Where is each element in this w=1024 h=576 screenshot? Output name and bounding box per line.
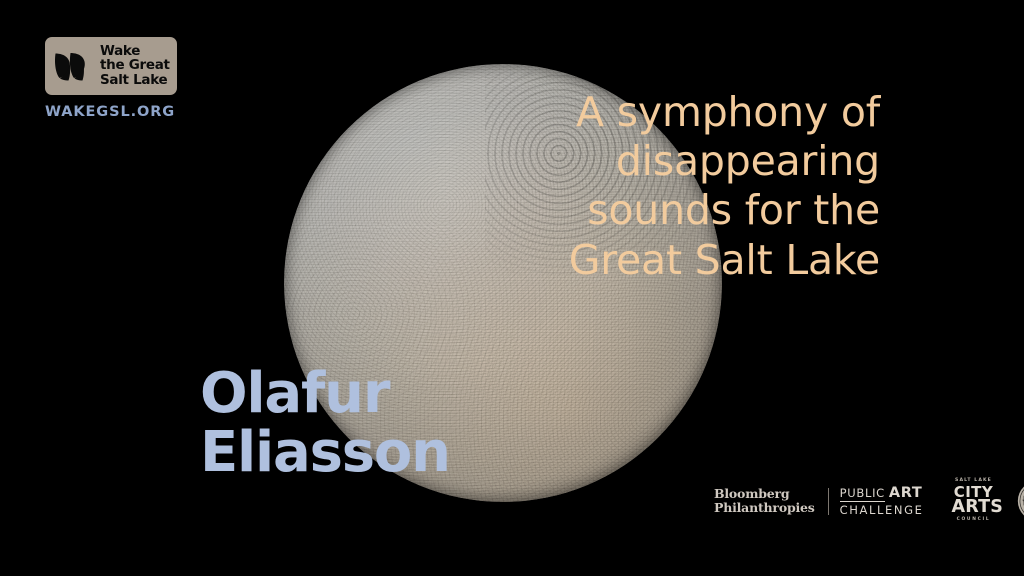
headline-line-3: sounds for the	[410, 186, 880, 235]
pac-art-label: ART	[889, 485, 922, 501]
headline-line-2: disappearing	[410, 137, 880, 186]
pac-challenge-label: CHALLENGE	[840, 504, 924, 518]
poster-canvas: Wake the Great Salt Lake WAKEGSL.ORG A s…	[0, 0, 1024, 576]
brand-website-url[interactable]: WAKEGSL.ORG	[45, 104, 177, 120]
brand-line-1: Wake	[100, 44, 170, 58]
artist-name-line-1: Olafur	[200, 364, 450, 423]
wake-gsl-logo-badge[interactable]: Wake the Great Salt Lake	[45, 37, 177, 95]
headline: A symphony of disappearing sounds for th…	[410, 88, 880, 285]
salt-lake-city-seal-icon[interactable]: 1847 SALT LAKE CITY	[1017, 480, 1024, 522]
artist-name: Olafur Eliasson	[200, 364, 450, 483]
brand-lockup[interactable]: Wake the Great Salt Lake WAKEGSL.ORG	[45, 37, 177, 120]
brand-line-2: the Great	[100, 58, 170, 72]
headline-line-1: A symphony of	[410, 88, 880, 137]
headline-line-4: Great Salt Lake	[410, 236, 880, 285]
bloomberg-philanthropies-logo[interactable]: Bloomberg Philanthropies	[714, 487, 815, 515]
slc-arts-council-logo[interactable]: SALT LAKE CITY ARTS COUNCIL	[951, 479, 995, 523]
slcarts-council-label: COUNCIL	[951, 518, 995, 522]
pac-public-label: PUBLIC	[840, 486, 885, 502]
brand-wordmark: Wake the Great Salt Lake	[100, 44, 170, 87]
wake-wave-w-mark-icon	[53, 46, 93, 86]
public-art-challenge-logo[interactable]: PUBLICART CHALLENGE	[840, 485, 924, 518]
bloomberg-line-1: Bloomberg	[714, 487, 815, 501]
artist-name-line-2: Eliasson	[200, 423, 450, 482]
sponsor-logo-strip: Bloomberg Philanthropies PUBLICART CHALL…	[714, 478, 1024, 524]
public-art-row: PUBLICART	[840, 485, 924, 502]
bloomberg-line-2: Philanthropies	[714, 501, 815, 515]
brand-line-3: Salt Lake	[100, 73, 170, 87]
slcarts-arts-label: ARTS	[951, 499, 995, 517]
sponsor-divider	[828, 488, 829, 515]
